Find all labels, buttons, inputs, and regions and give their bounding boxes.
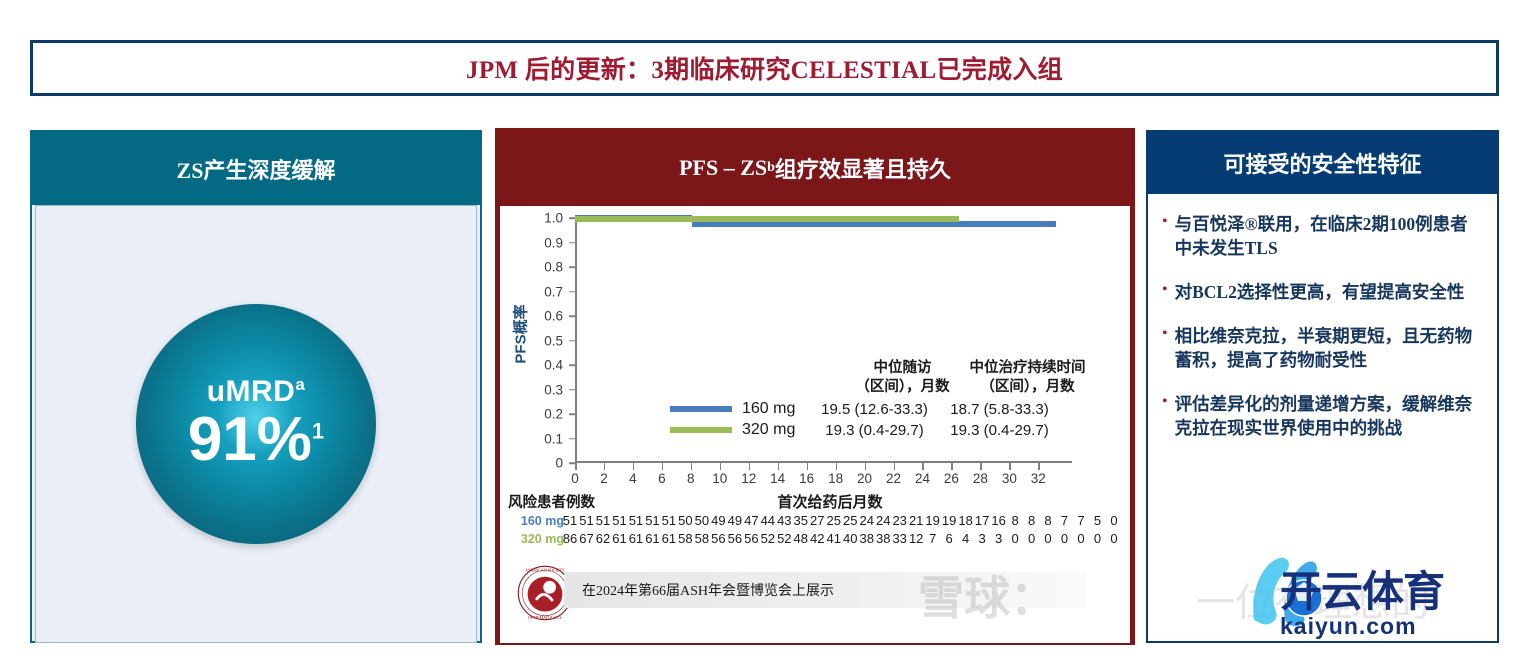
legend-median-followup: 19.5 (12.6-33.3) <box>812 401 937 418</box>
risk-cell: 0 <box>1094 531 1101 546</box>
safety-bullet-list: •与百悦泽®联用，在临床2期100例患者中未发生TLS•对BCL2选择性更高，有… <box>1162 212 1483 440</box>
risk-cell: 61 <box>645 531 659 546</box>
risk-cell: 19 <box>942 513 956 528</box>
risk-cell: 62 <box>596 531 610 546</box>
umrd-label-superscript: a <box>295 375 305 394</box>
risk-cell: 33 <box>892 531 906 546</box>
risk-cell: 56 <box>744 531 758 546</box>
risk-cell: 51 <box>563 513 577 528</box>
risk-cell: 24 <box>859 513 873 528</box>
risk-cell: 7 <box>1077 513 1084 528</box>
risk-cell: 16 <box>991 513 1005 528</box>
risk-cell: 61 <box>662 531 676 546</box>
legend-row: 320 mg19.3 (0.4-29.7)19.3 (0.4-29.7) <box>670 421 1090 439</box>
footer-bar: 在2024年第66届ASH年会暨博览会上展示 <box>564 572 1086 608</box>
risk-cell: 0 <box>1011 531 1018 546</box>
risk-cell: 52 <box>761 531 775 546</box>
risk-cell: 25 <box>843 513 857 528</box>
risk-cell: 6 <box>946 531 953 546</box>
km-chart: PFS概率 00.10.20.30.40.50.60.70.80.91.0 02… <box>500 206 1134 643</box>
umrd-bubble: uMRDa 91%1 <box>136 304 376 544</box>
safety-bullet-item: •与百悦泽®联用，在临床2期100例患者中未发生TLS <box>1162 212 1483 260</box>
risk-cell: 61 <box>629 531 643 546</box>
risk-cell: 25 <box>827 513 841 528</box>
risk-cell: 40 <box>843 531 857 546</box>
risk-cell: 51 <box>629 513 643 528</box>
legend-header-median-duration: 中位治疗持续时间 （区间），月数 <box>965 359 1090 397</box>
risk-cell: 8 <box>1011 513 1018 528</box>
risk-cell: 23 <box>892 513 906 528</box>
risk-cell: 35 <box>794 513 808 528</box>
risk-cell: 67 <box>579 531 593 546</box>
safety-bullet-item: •评估差异化的剂量递增方案，缓解维奈克拉在现实世界使用中的挑战 <box>1162 392 1483 440</box>
umrd-value-text: 91% <box>188 405 312 474</box>
svg-text:OF HEMATOLOGY: OF HEMATOLOGY <box>528 615 562 620</box>
umrd-value: 91%1 <box>188 407 324 472</box>
risk-cell: 56 <box>728 531 742 546</box>
legend-header-median-followup: 中位随访 （区间），月数 <box>840 359 965 397</box>
safety-bullet-text: 评估差异化的剂量递增方案，缓解维奈克拉在现实世界使用中的挑战 <box>1175 392 1483 440</box>
legend-rows: 160 mg19.5 (12.6-33.3)18.7 (5.8-33.3)320… <box>670 400 1090 439</box>
risk-cell: 56 <box>711 531 725 546</box>
risk-cell: 48 <box>794 531 808 546</box>
risk-cell: 8 <box>1044 513 1051 528</box>
legend-series-name: 160 mg <box>742 400 812 418</box>
left-panel-header: ZS产生深度缓解 <box>32 132 480 205</box>
page-title: JPM 后的更新：3期临床研究CELESTIAL已完成入组 <box>466 50 1063 86</box>
svg-text:AMERICAN SOCIETY: AMERICAN SOCIETY <box>525 568 565 573</box>
risk-cell: 86 <box>563 531 577 546</box>
risk-cell: 12 <box>909 531 923 546</box>
legend-color-swatch <box>670 406 732 412</box>
risk-cell: 38 <box>876 531 890 546</box>
km-curve-segment-320-mg <box>575 216 959 222</box>
risk-row-values: 8667626161616158585656565252484241403838… <box>564 531 1120 548</box>
middle-panel-header-prefix: PFS – ZS <box>679 155 767 181</box>
risk-cell: 3 <box>995 531 1002 546</box>
chart-x-axis-label: 首次给药后月数 <box>777 491 882 512</box>
risk-cell: 38 <box>859 531 873 546</box>
risk-cell: 0 <box>1044 531 1051 546</box>
risk-row-values: 5151515151515150504949474443352725252424… <box>564 513 1120 530</box>
legend-header-followup-line1: 中位随访 <box>840 359 965 378</box>
bullet-marker-icon: • <box>1162 280 1168 304</box>
risk-cell: 51 <box>612 513 626 528</box>
bullet-marker-icon: • <box>1162 392 1168 440</box>
safety-bullet-text: 与百悦泽®联用，在临床2期100例患者中未发生TLS <box>1175 212 1483 260</box>
risk-table-row: 160 mg5151515151515150504949474443352725… <box>508 513 1120 530</box>
risk-cell: 51 <box>579 513 593 528</box>
panel-safety-profile: 可接受的安全性特征 •与百悦泽®联用，在临床2期100例患者中未发生TLS•对B… <box>1146 130 1499 643</box>
risk-row-label: 320 mg <box>508 532 564 546</box>
legend-header-followup-line2: （区间），月数 <box>840 378 965 397</box>
km-curve-segment-160-mg <box>692 221 1055 227</box>
umrd-label: uMRDa <box>207 375 306 409</box>
risk-cell: 50 <box>695 513 709 528</box>
middle-panel-header-suffix: 组疗效显著且持久 <box>775 152 951 184</box>
risk-cell: 7 <box>1061 513 1068 528</box>
risk-cell: 49 <box>711 513 725 528</box>
footer-presentation-text: 在2024年第66届ASH年会暨博览会上展示 <box>582 580 834 600</box>
risk-cell: 50 <box>678 513 692 528</box>
slide-title-banner: JPM 后的更新：3期临床研究CELESTIAL已完成入组 <box>30 40 1499 96</box>
legend-color-swatch <box>670 427 732 433</box>
risk-cell: 47 <box>744 513 758 528</box>
panel-depth-of-response: ZS产生深度缓解 uMRDa 91%1 <box>30 130 482 643</box>
safety-bullet-text: 对BCL2选择性更高，有望提高安全性 <box>1175 280 1465 304</box>
risk-cell: 58 <box>695 531 709 546</box>
umrd-label-text: uMRD <box>207 375 296 408</box>
legend-header-row: 中位随访 （区间），月数 中位治疗持续时间 （区间），月数 <box>670 359 1090 397</box>
panel-pfs-chart: PFS – ZSb组疗效显著且持久 PFS概率 00.10.20.30.40.5… <box>495 128 1135 645</box>
chart-legend: 中位随访 （区间），月数 中位治疗持续时间 （区间），月数 160 mg19.5… <box>670 359 1090 439</box>
risk-cell: 7 <box>929 531 936 546</box>
safety-bullet-text: 相比维奈克拉，半衰期更短，且无药物蓄积，提高了药物耐受性 <box>1175 324 1483 372</box>
risk-cell: 17 <box>975 513 989 528</box>
risk-cell: 0 <box>1110 531 1117 546</box>
middle-panel-body: PFS概率 00.10.20.30.40.50.60.70.80.91.0 02… <box>500 206 1130 643</box>
risk-cell: 5 <box>1094 513 1101 528</box>
risk-cell: 41 <box>827 531 841 546</box>
safety-bullet-item: •相比维奈克拉，半衰期更短，且无药物蓄积，提高了药物耐受性 <box>1162 324 1483 372</box>
middle-panel-header-superscript: b <box>767 160 775 176</box>
left-panel-body: uMRDa 91%1 <box>35 205 477 643</box>
middle-panel-header: PFS – ZSb组疗效显著且持久 <box>497 130 1133 206</box>
bullet-marker-icon: • <box>1162 212 1168 260</box>
risk-cell: 0 <box>1077 531 1084 546</box>
risk-cell: 43 <box>777 513 791 528</box>
risk-cell: 21 <box>909 513 923 528</box>
umrd-value-superscript: 1 <box>312 419 324 444</box>
right-panel-body: •与百悦泽®联用，在临床2期100例患者中未发生TLS•对BCL2选择性更高，有… <box>1148 194 1497 641</box>
legend-median-duration: 19.3 (0.4-29.7) <box>937 422 1062 439</box>
chart-footer: AMERICAN SOCIETY OF HEMATOLOGY 在2024年第66… <box>508 564 1126 616</box>
legend-median-followup: 19.3 (0.4-29.7) <box>812 422 937 439</box>
chart-km-curves <box>500 206 1134 506</box>
legend-series-name: 320 mg <box>742 421 812 439</box>
risk-cell: 42 <box>810 531 824 546</box>
risk-cell: 51 <box>662 513 676 528</box>
risk-cell: 4 <box>962 531 969 546</box>
risk-cell: 0 <box>1028 531 1035 546</box>
legend-header-duration-line2: （区间），月数 <box>965 378 1090 397</box>
risk-cell: 44 <box>761 513 775 528</box>
risk-cell: 61 <box>612 531 626 546</box>
risk-cell: 51 <box>596 513 610 528</box>
bullet-marker-icon: • <box>1162 324 1168 372</box>
slide-root: JPM 后的更新：3期临床研究CELESTIAL已完成入组 ZS产生深度缓解 u… <box>0 0 1529 653</box>
legend-header-duration-line1: 中位治疗持续时间 <box>965 359 1090 378</box>
right-panel-header: 可接受的安全性特征 <box>1148 132 1497 194</box>
risk-cell: 51 <box>645 513 659 528</box>
risk-cell: 3 <box>978 531 985 546</box>
risk-cell: 8 <box>1028 513 1035 528</box>
risk-row-label: 160 mg <box>508 514 564 528</box>
risk-cell: 27 <box>810 513 824 528</box>
risk-cell: 58 <box>678 531 692 546</box>
risk-table-title: 风险患者例数 <box>508 491 595 512</box>
risk-cell: 0 <box>1110 513 1117 528</box>
risk-cell: 18 <box>958 513 972 528</box>
risk-cell: 19 <box>925 513 939 528</box>
safety-bullet-item: •对BCL2选择性更高，有望提高安全性 <box>1162 280 1483 304</box>
risk-cell: 0 <box>1061 531 1068 546</box>
risk-table-row: 320 mg8667626161616158585656565252484241… <box>508 531 1120 548</box>
risk-cell: 24 <box>876 513 890 528</box>
risk-cell: 52 <box>777 531 791 546</box>
legend-row: 160 mg19.5 (12.6-33.3)18.7 (5.8-33.3) <box>670 400 1090 418</box>
legend-median-duration: 18.7 (5.8-33.3) <box>937 401 1062 418</box>
risk-cell: 49 <box>728 513 742 528</box>
